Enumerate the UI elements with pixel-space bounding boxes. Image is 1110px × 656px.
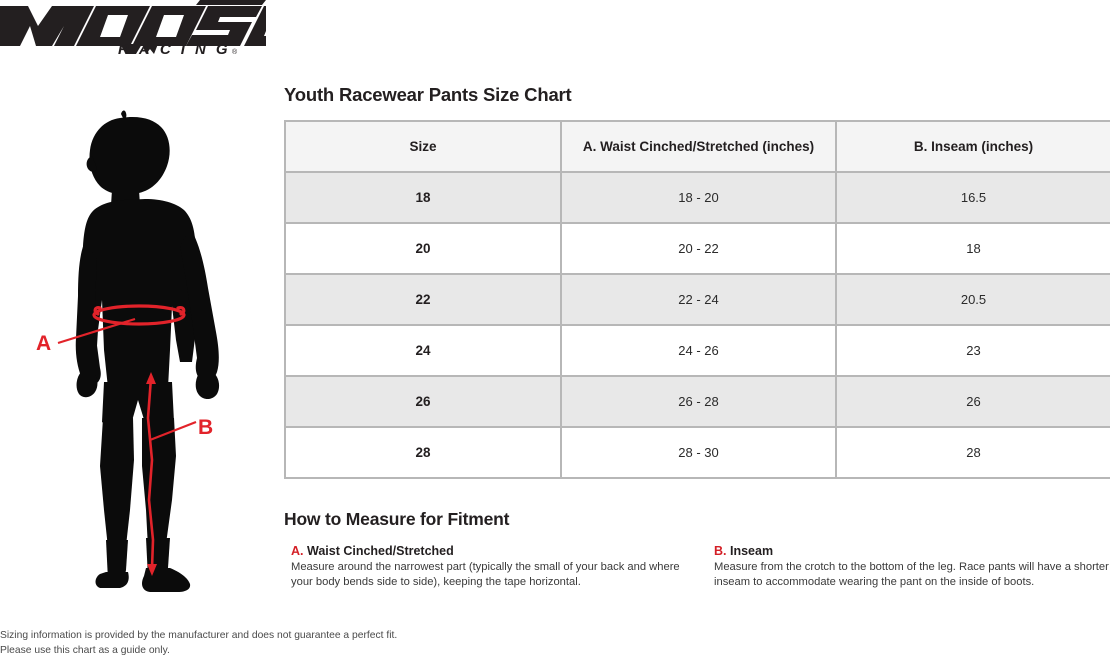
size-chart-table: Size A. Waist Cinched/Stretched (inches)… <box>284 120 1110 479</box>
page-title: Youth Racewear Pants Size Chart <box>284 84 1110 106</box>
measurement-diagram: A B <box>0 100 282 600</box>
cell-size: 20 <box>285 223 561 274</box>
table-header-row: Size A. Waist Cinched/Stretched (inches)… <box>285 121 1110 172</box>
cell-inseam: 23 <box>836 325 1110 376</box>
cell-size: 18 <box>285 172 561 223</box>
cell-size: 24 <box>285 325 561 376</box>
figure-label-b: B <box>198 416 213 439</box>
cell-waist: 24 - 26 <box>561 325 836 376</box>
cell-inseam: 26 <box>836 376 1110 427</box>
column-header-inseam: B. Inseam (inches) <box>836 121 1110 172</box>
youth-figure-silhouette-icon: A B <box>0 100 282 600</box>
cell-inseam: 16.5 <box>836 172 1110 223</box>
svg-text:®: ® <box>232 48 238 56</box>
figure-label-a: A <box>36 332 51 355</box>
disclaimer: Sizing information is provided by the ma… <box>0 629 397 656</box>
table-row: 20 20 - 22 18 <box>285 223 1110 274</box>
measure-item-b: B. Inseam Measure from the crotch to the… <box>714 544 1110 591</box>
cell-inseam: 18 <box>836 223 1110 274</box>
measure-letter-a: A. <box>291 544 304 558</box>
measure-item-a-heading: A. Waist Cinched/Stretched <box>284 544 714 558</box>
cell-waist: 22 - 24 <box>561 274 836 325</box>
cell-waist: 18 - 20 <box>561 172 836 223</box>
disclaimer-line-2: Please use this chart as a guide only. <box>0 644 397 656</box>
cell-inseam: 20.5 <box>836 274 1110 325</box>
cell-waist: 26 - 28 <box>561 376 836 427</box>
measure-item-a: A. Waist Cinched/Stretched Measure aroun… <box>284 544 714 591</box>
measure-text-a: Measure around the narrowest part (typic… <box>284 560 688 591</box>
cell-size: 28 <box>285 427 561 478</box>
measure-item-b-heading: B. Inseam <box>714 544 1110 558</box>
table-row: 28 28 - 30 28 <box>285 427 1110 478</box>
measure-text-b: Measure from the crotch to the bottom of… <box>714 560 1110 591</box>
logo-icon: RACING ® <box>0 0 266 58</box>
table-row: 24 24 - 26 23 <box>285 325 1110 376</box>
cell-size: 22 <box>285 274 561 325</box>
cell-size: 26 <box>285 376 561 427</box>
column-header-waist: A. Waist Cinched/Stretched (inches) <box>561 121 836 172</box>
table-row: 26 26 - 28 26 <box>285 376 1110 427</box>
size-chart-page: RACING ® <box>0 0 1110 656</box>
measure-label-a: Waist Cinched/Stretched <box>307 544 454 558</box>
table-row: 18 18 - 20 16.5 <box>285 172 1110 223</box>
measure-letter-b: B. <box>714 544 727 558</box>
moose-racing-logo: RACING ® <box>0 0 266 58</box>
cell-inseam: 28 <box>836 427 1110 478</box>
content-column: Youth Racewear Pants Size Chart Size A. … <box>284 84 1110 591</box>
column-header-size: Size <box>285 121 561 172</box>
cell-waist: 20 - 22 <box>561 223 836 274</box>
how-to-measure-columns: A. Waist Cinched/Stretched Measure aroun… <box>284 544 1110 591</box>
disclaimer-line-1: Sizing information is provided by the ma… <box>0 629 397 644</box>
how-to-measure-title: How to Measure for Fitment <box>284 509 1110 530</box>
table-row: 22 22 - 24 20.5 <box>285 274 1110 325</box>
measure-label-b: Inseam <box>730 544 773 558</box>
cell-waist: 28 - 30 <box>561 427 836 478</box>
